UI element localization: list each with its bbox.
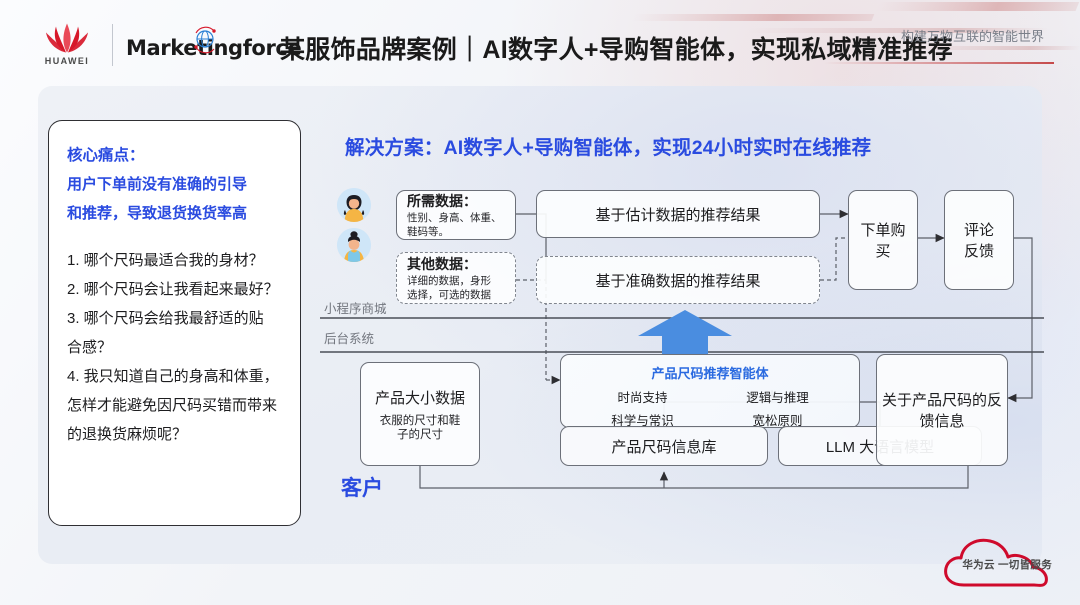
- agent-capability-grid: 时尚支持 逻辑与推理 科学与常识 宽松原则: [561, 387, 859, 429]
- box-review-feedback-line1: 评论: [964, 219, 994, 240]
- box-other-data[interactable]: 其他数据： 详细的数据，身形 选择，可选的数据: [396, 252, 516, 304]
- lane-label-backend: 后台系统: [324, 328, 374, 347]
- pain-question: 2. 哪个尺码会让我看起来最好？: [67, 275, 282, 304]
- box-required-data[interactable]: 所需数据： 性别、身高、体重、 鞋码等。: [396, 190, 516, 240]
- box-size-recommendation-agent[interactable]: 产品尺码推荐智能体 时尚支持 逻辑与推理 科学与常识 宽松原则: [560, 354, 860, 428]
- box-accurate-result[interactable]: 基于准确数据的推荐结果: [536, 256, 820, 304]
- box-other-data-sub2: 选择，可选的数据: [407, 288, 491, 302]
- huawei-flower-icon: [42, 22, 92, 54]
- solution-title: 解决方案：AI数字人+导购智能体，实现24小时实时在线推荐: [345, 131, 871, 160]
- box-size-database[interactable]: 产品尺码信息库: [560, 426, 768, 466]
- pain-points-subheading-line1: 用户下单前没有准确的引导: [67, 170, 282, 199]
- box-other-data-sub1: 详细的数据，身形: [407, 274, 491, 288]
- header-tagline: 构建万物互联的智能世界: [901, 26, 1044, 45]
- pain-points-card: 核心痛点： 用户下单前没有准确的引导 和推荐，导致退货换货率高 1. 哪个尺码最…: [48, 120, 301, 526]
- agent-title: 产品尺码推荐智能体: [651, 363, 768, 382]
- upward-flow-arrow-icon: [638, 310, 732, 354]
- pain-question: 合感？: [67, 333, 282, 362]
- solution-diagram: 所需数据： 性别、身高、体重、 鞋码等。 其他数据： 详细的数据，身形 选择，可…: [320, 176, 1044, 506]
- globe-icon: [194, 24, 216, 54]
- box-review-feedback-line2: 反馈: [964, 240, 994, 261]
- page-title: 某服饰品牌案例｜AI数字人+导购智能体，实现私域精准推荐: [280, 30, 953, 66]
- box-estimated-result[interactable]: 基于估计数据的推荐结果: [536, 190, 820, 238]
- spacer: [67, 228, 282, 246]
- page-header: HUAWEI Marketingforce 某服饰品牌案例｜AI数字人+导购智能…: [0, 0, 1080, 88]
- avatar-customer-2: [337, 228, 371, 262]
- box-feedback-info[interactable]: 关于产品尺码的反 馈信息: [876, 354, 1008, 466]
- pain-points-subheading-line2: 和推荐，导致退货换货率高: [67, 199, 282, 228]
- box-order-purchase[interactable]: 下单购 买: [848, 190, 918, 290]
- box-estimated-result-title: 基于估计数据的推荐结果: [595, 204, 760, 225]
- marketingforce-logo: Marketingforce: [126, 30, 301, 66]
- box-feedback-info-line2: 馈信息: [919, 410, 964, 431]
- box-review-feedback[interactable]: 评论 反馈: [944, 190, 1014, 290]
- box-required-data-title: 所需数据：: [407, 191, 477, 211]
- customer-label: 客户: [341, 472, 383, 502]
- huawei-wordmark: HUAWEI: [45, 56, 89, 66]
- agent-capability: 时尚支持: [575, 387, 710, 406]
- pain-question: 的退换货麻烦呢？: [67, 420, 282, 449]
- huawei-logo: HUAWEI: [38, 22, 96, 72]
- cloud-slogan: 华为云 一切皆服务: [962, 557, 1052, 572]
- header-divider: [112, 24, 113, 66]
- header-underline: [824, 62, 1054, 64]
- box-order-purchase-line2: 买: [875, 240, 890, 261]
- pain-question: 4. 我只知道自己的身高和体重，: [67, 362, 282, 391]
- agent-capability: 逻辑与推理: [710, 387, 845, 406]
- box-other-data-title: 其他数据：: [407, 254, 477, 274]
- person-icon: [337, 228, 371, 262]
- person-icon: [337, 188, 371, 222]
- box-product-size-data[interactable]: 产品大小数据 衣服的尺寸和鞋 子的尺寸: [360, 362, 480, 466]
- pain-points-heading: 核心痛点：: [67, 141, 282, 170]
- box-product-size-data-title: 产品大小数据: [375, 387, 465, 408]
- avatar-customer-1: [337, 188, 371, 222]
- pain-question: 3. 哪个尺码会给我最舒适的贴: [67, 304, 282, 333]
- lane-label-miniapp: 小程序商城: [324, 298, 387, 317]
- box-order-purchase-line1: 下单购: [860, 219, 905, 240]
- box-product-size-data-sub1: 衣服的尺寸和鞋: [380, 414, 461, 428]
- box-required-data-sub1: 性别、身高、体重、: [407, 211, 502, 225]
- pain-question: 1. 哪个尺码最适合我的身材？: [67, 246, 282, 275]
- box-product-size-data-sub2: 子的尺寸: [397, 428, 443, 442]
- box-size-database-title: 产品尺码信息库: [611, 436, 716, 457]
- box-feedback-info-line1: 关于产品尺码的反: [882, 389, 1002, 410]
- box-required-data-sub2: 鞋码等。: [407, 225, 449, 239]
- box-accurate-result-title: 基于准确数据的推荐结果: [595, 270, 760, 291]
- pain-question: 怎样才能避免因尺码买错而带来: [67, 391, 282, 420]
